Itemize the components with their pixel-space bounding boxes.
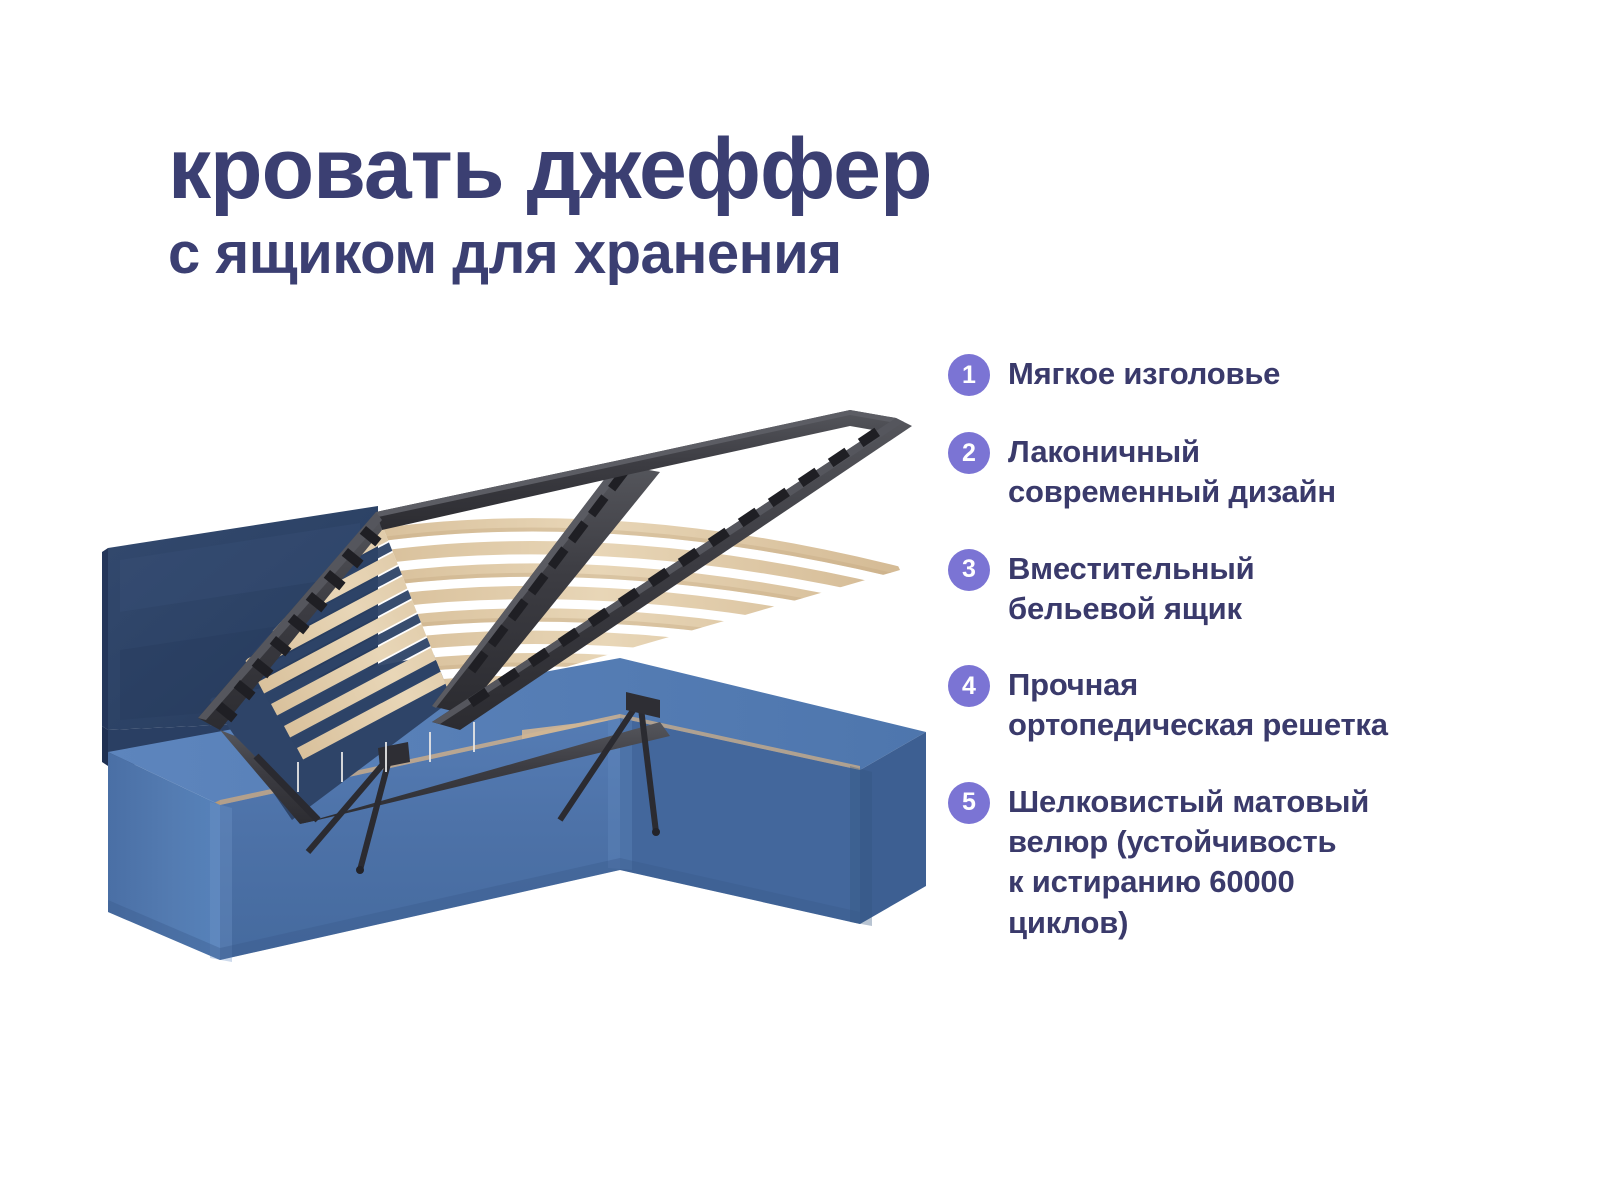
feature-list: 1 Мягкое изголовье 2 Лаконичный современ… xyxy=(948,352,1488,943)
feature-badge-1: 1 xyxy=(948,354,990,396)
feature-label-3: Вместительный бельевой ящик xyxy=(1008,547,1254,630)
feature-badge-5: 5 xyxy=(948,782,990,824)
product-title: кровать джеффер xyxy=(168,126,1268,214)
feature-badge-3: 3 xyxy=(948,549,990,591)
feature-item-3: 3 Вместительный бельевой ящик xyxy=(948,547,1488,630)
feature-label-4: Прочная ортопедическая решетка xyxy=(1008,663,1388,746)
feature-badge-4: 4 xyxy=(948,665,990,707)
infographic-page: кровать джеффер с ящиком для хранения xyxy=(0,0,1600,1200)
title-block: кровать джеффер с ящиком для хранения xyxy=(168,126,1268,286)
feature-label-2: Лаконичный современный дизайн xyxy=(1008,430,1336,513)
feature-item-5: 5 Шелковистый матовый велюр (устойчивост… xyxy=(948,780,1488,943)
feature-item-4: 4 Прочная ортопедическая решетка xyxy=(948,663,1488,746)
product-subtitle: с ящиком для хранения xyxy=(168,222,1268,286)
feature-item-1: 1 Мягкое изголовье xyxy=(948,352,1488,396)
feature-badge-2: 2 xyxy=(948,432,990,474)
feature-item-2: 2 Лаконичный современный дизайн xyxy=(948,430,1488,513)
feature-label-5: Шелковистый матовый велюр (устойчивость … xyxy=(1008,780,1369,943)
product-image xyxy=(60,400,960,1060)
feature-label-1: Мягкое изголовье xyxy=(1008,352,1280,394)
